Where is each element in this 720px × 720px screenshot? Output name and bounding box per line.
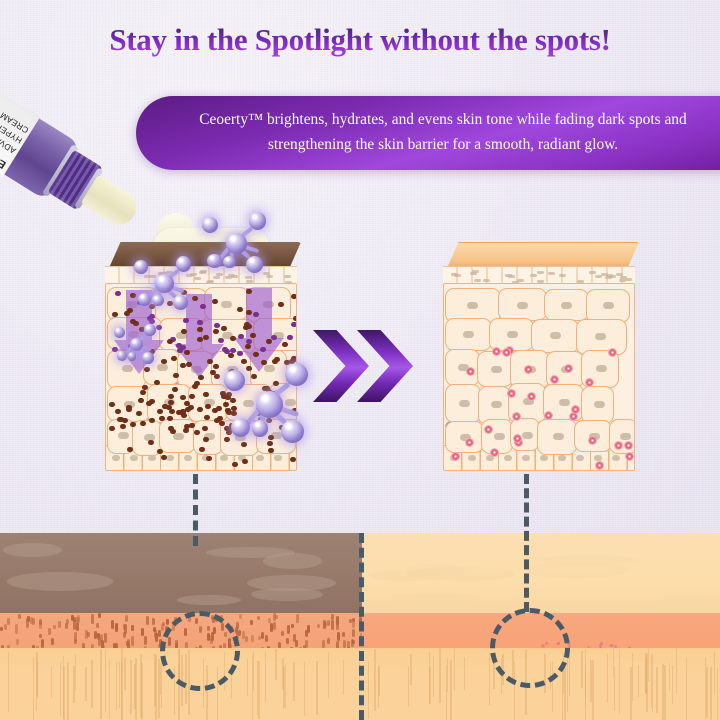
melanin-granule [161,359,167,364]
pigment-speck [331,620,334,630]
keratinocyte [445,318,492,352]
collagen-fiber [630,667,632,720]
active-ingredient-molecule [252,420,269,437]
skin-block-after [443,242,643,472]
melanin-granule [197,320,203,325]
pigment-speck [30,617,33,624]
pigment-speck [337,632,340,641]
active-ingredient-molecule [246,256,264,274]
collagen-fiber [119,662,121,708]
collagen-fiber [564,668,566,720]
active-ingredient-molecule [176,256,192,272]
collagen-fiber [410,654,412,686]
corneum-fleck [474,279,481,282]
description-text: Ceoerty™ brightens, hydrates, and evens … [162,107,720,157]
cell-nucleus [491,366,502,373]
collagen-fiber [669,663,671,691]
collagen-fiber [293,662,295,701]
collagen-fiber [158,659,160,718]
collagen-fiber [705,657,707,720]
active-ingredient-molecule [285,363,308,386]
melanin-granule [154,380,160,385]
melanin-granule [214,323,220,328]
collagen-fiber [714,651,716,695]
cell-nucleus [559,399,570,406]
active-ingredient-molecule [144,324,155,335]
melanin-granule [109,426,115,431]
collagen-fiber [646,654,648,712]
collagen-fiber [141,663,143,720]
pigment-speck [291,624,294,628]
basal-nucleus [130,455,138,461]
active-ingredient-molecule [173,295,189,311]
collagen-fiber [374,649,376,711]
pigment-speck [77,615,80,624]
basal-nucleus [540,455,548,461]
basal-nucleus [468,455,476,461]
healthy-pigment-cell [544,411,553,420]
collagen-fiber [592,660,594,720]
pigment-speck [16,639,19,646]
corneum-fleck [470,272,477,275]
pigment-patch [177,595,241,606]
healthy-surface-slab [447,242,639,268]
collagen-fiber [439,648,441,702]
keratinocyte [581,386,614,424]
cell-nucleus [467,302,478,309]
healthy-pigment-cell [550,375,559,384]
active-ingredient-molecule [138,293,151,306]
melanin-granule [203,437,209,442]
active-ingredient-molecule [134,260,148,274]
cell-nucleus [620,433,631,440]
collagen-fiber [130,660,132,714]
pigment-speck [158,630,161,637]
pigment-speck [146,616,149,625]
pigment-patch [7,572,113,591]
melanin-granule [189,423,195,428]
collagen-fiber [275,649,277,680]
cell-nucleus [494,433,505,440]
collagen-fiber [155,655,157,720]
basal-nucleus [148,455,156,461]
collagen-fiber [656,667,658,713]
active-ingredient-molecule [281,420,304,443]
pigment-speck [0,627,3,632]
collagen-fiber [91,660,93,708]
collagen-fiber [116,662,118,710]
basal-nucleus [220,455,228,461]
collagen-fiber [100,649,102,719]
collagen-fiber [619,649,621,714]
melanin-granule [168,400,174,405]
collagen-fiber [60,662,62,716]
corneum-fleck [620,276,627,279]
collagen-fiber [664,665,666,720]
pigment-speck [65,623,68,629]
keratinocyte [445,384,481,423]
melanin-granule [203,335,209,340]
collagen-fiber [450,660,452,720]
cell-nucleus [459,400,470,407]
pigment-speck [351,639,354,647]
active-ingredient-molecule [114,327,124,337]
healthy-pigment-speck [610,644,613,647]
active-ingredient-molecule [117,351,126,360]
active-ingredient-molecule [202,217,218,233]
pigment-speck [343,640,346,648]
molecule-cluster-deep [216,355,311,450]
collagen-fiber [33,657,35,720]
collagen-fiber [121,648,123,720]
pigment-speck [144,636,147,646]
pigment-speck [26,618,29,628]
melanin-granule [206,456,212,461]
basal-nucleus [576,455,584,461]
keratinocyte [445,349,480,386]
pigment-speck [15,624,18,634]
callout-circle-before [160,611,240,691]
pigment-speck [76,623,79,631]
active-ingredient-molecule [142,352,153,363]
pigment-speck [91,614,94,623]
corneum-fleck [284,275,291,278]
melanin-granule [168,394,174,399]
pigment-speck [48,628,51,635]
collagen-fiber [585,649,587,708]
melanin-granule [246,339,252,344]
pigment-speck [317,624,320,628]
melanin-granule [180,409,186,414]
collagen-fiber [489,653,491,705]
corneum-fleck [505,274,512,277]
melanin-granule [138,398,144,403]
basal-nucleus [504,455,512,461]
callout-line-after [524,474,529,612]
collagen-fiber [247,659,249,696]
pigment-speck [125,615,128,622]
cell-nucleus [522,432,533,439]
melanin-granule [250,333,256,338]
melanin-granule [115,291,121,296]
collagen-fiber [285,664,287,709]
keratinocyte [537,419,576,454]
keratinocyte [498,288,547,321]
corneum-fleck [517,279,524,282]
melanin-granule [202,426,208,431]
collagen-fiber [258,661,260,719]
cell-nucleus [463,331,474,338]
pigment-speck [258,636,261,640]
collagen-fiber [304,662,306,716]
pigment-speck [115,623,118,632]
keratinocyte [586,289,630,323]
basal-nucleus [274,455,282,461]
collagen-fiber [124,658,126,690]
melanin-granule [205,404,211,409]
melanin-granule [246,310,252,315]
pigment-speck [251,635,254,642]
active-ingredient-molecule [256,391,283,418]
collagen-fiber [447,658,449,692]
corneum-fleck [454,274,461,277]
cell-nucleus [603,302,614,309]
collagen-fiber [253,651,255,691]
collagen-fiber [638,665,640,697]
collagen-fiber [109,661,111,719]
collagen-fiber [63,656,65,718]
pigment-speck [104,633,107,643]
pigment-speck [245,636,248,642]
molecule-cluster-airborne [196,206,268,278]
healthy-pigment-cell [625,452,634,461]
melanin-granule [291,322,297,327]
melanin-granule [238,334,244,339]
page-title: Stay in the Spotlight without the spots! [0,22,720,58]
melanin-granule [140,390,146,395]
melanin-granule [253,312,259,317]
melanin-granule [184,350,190,355]
pigment-speck [131,636,134,646]
pigment-speck [131,625,134,631]
cell-nucleus [550,332,561,339]
collagen-fiber [454,648,456,691]
collagen-fiber [67,662,69,720]
pigment-speck [111,620,114,629]
collagen-fiber [581,651,583,688]
pigment-speck [275,615,278,619]
basal-nucleus [522,455,530,461]
cell-nucleus [595,333,606,340]
active-ingredient-molecule [231,418,250,437]
pigment-speck [41,639,44,648]
collagen-fiber [632,653,634,700]
collagen-fiber [567,655,569,712]
callout-circle-after [490,608,570,688]
active-ingredient-molecule [128,352,136,360]
melanin-granule [126,407,132,412]
basal-nucleus [112,455,120,461]
cell-nucleus [596,365,607,372]
corneum-fleck [548,272,555,275]
corneum-fleck [483,279,490,282]
melanin-granule [260,347,266,352]
collagen-fiber [614,667,616,711]
healthy-pigment-cell [484,425,493,434]
melanin-granule [207,359,213,364]
active-ingredient-molecule [249,212,267,230]
collagen-fiber [562,667,564,720]
active-ingredient-molecule [152,295,164,307]
cell-nucleus [517,302,528,309]
pigment-speck [327,620,330,626]
collagen-fiber [8,652,10,712]
melanin-granule [183,318,189,323]
collagen-fiber [652,653,654,712]
melanin-granule [109,402,115,407]
pigment-speck [261,632,264,639]
pigment-speck [98,613,101,617]
pigment-speck [74,632,77,642]
molecule-cluster-surface [128,250,193,315]
pigment-speck [123,632,126,638]
epidermis-after [443,283,635,471]
pigment-speck [239,614,242,620]
pigment-speck [352,629,355,637]
melanin-granule [157,409,163,414]
melanin-granule [242,459,248,464]
cell-nucleus [594,401,605,408]
pigment-speck [18,614,21,619]
melanin-granule [140,421,146,426]
corneum-fleck [589,271,596,274]
clear-surface [362,533,720,616]
melanin-granule [144,367,150,372]
collagen-fiber [378,667,380,707]
collagen-fiber [328,652,330,698]
melanin-granule [130,422,136,427]
collagen-fiber [343,660,345,695]
corneum-fleck [530,274,537,277]
collagen-fiber [569,654,571,696]
melanin-granule [221,326,227,331]
cell-nucleus [553,433,564,440]
cell-nucleus [491,401,502,408]
pigment-speck [305,630,308,637]
pigment-speck [336,616,339,625]
pigment-speck [51,638,54,645]
collagen-fiber [316,661,318,715]
melanin-granule [200,304,206,309]
keratinocyte [531,319,579,353]
cell-nucleus [561,302,572,309]
keratinocyte [544,289,589,321]
collagen-fiber [134,664,136,709]
pigment-speck [327,638,330,644]
description-banner: Ceoerty™ brightens, hydrates, and evens … [136,96,720,170]
basal-nucleus [256,455,264,461]
melanin-granule [180,363,186,368]
collagen-fiber [672,665,674,704]
pigment-speck [153,627,156,631]
melanin-granule [142,385,148,390]
basal-nucleus [612,455,620,461]
healthy-pigment-cell [466,367,475,376]
pigment-speck [85,630,88,639]
pigment-speck [152,618,155,624]
pigment-speck [161,624,164,630]
pigment-speck [126,641,129,646]
healthy-pigment-cell [564,364,573,373]
collagen-fiber [676,648,678,692]
melanin-granule [157,449,163,454]
pigment-patch [263,553,322,568]
pigment-speck [7,618,10,626]
healthy-pigment-cell [507,389,516,398]
pigment-speck [58,621,61,628]
melanin-granule [171,356,177,361]
tone-patch [389,593,478,604]
pigment-speck [286,638,289,644]
melanin-granule [188,405,194,410]
pigment-speck [250,620,253,625]
melanin-granule [230,336,236,341]
melanin-granule [167,416,173,421]
molecule-cluster-small [110,320,157,367]
melanin-granule [246,289,252,294]
pigment-speck [96,623,99,627]
pigment-speck [295,640,298,647]
collagen-fiber [408,666,410,708]
pigment-speck [100,634,103,643]
pigment-patch [247,575,336,592]
collagen-fiber [686,657,688,720]
cell-nucleus [507,331,518,338]
pigment-speck [349,619,352,624]
melanin-granule [194,381,200,386]
pigmented-surface [0,533,362,616]
healthy-pigment-cell [492,347,501,356]
pigment-speck [324,622,327,627]
basal-nucleus [184,455,192,461]
active-ingredient-molecule [207,254,221,268]
melanin-granule [204,415,210,420]
pigment-speck [342,632,345,637]
pigment-speck [71,615,74,620]
tone-patch [405,564,464,578]
pigment-speck [257,616,260,620]
before-after-divider [359,533,364,720]
corneum-fleck [537,271,544,274]
collagen-fiber [368,661,370,719]
pigment-speck [270,623,273,633]
collagen-fiber [706,667,708,718]
pigment-speck [281,631,284,636]
infographic-canvas: Stay in the Spotlight without the spots!… [0,0,720,720]
collagen-fiber [710,667,712,720]
pigment-speck [39,621,42,628]
melanin-granule [293,316,297,321]
melanin-granule [232,462,238,467]
callout-line-before [193,474,198,546]
collagen-fiber [429,652,431,704]
collagen-fiber [51,667,53,698]
melanin-granule [291,294,297,299]
collagen-fiber [433,656,435,697]
corneum-fleck [559,274,566,277]
pigment-speck [53,625,56,629]
corneum-fleck [609,275,616,278]
healthy-pigment-cell [585,378,594,387]
keratinocyte [445,421,484,453]
collagen-fiber [73,666,75,703]
healthy-pigment-cell [502,348,511,357]
active-ingredient-molecule [224,370,245,391]
pigment-speck [296,614,299,623]
collagen-fiber [75,654,77,690]
collagen-fiber [105,650,107,712]
collagen-fiber [717,668,719,720]
corneum-fleck [595,275,602,278]
melanin-granule [112,312,118,317]
healthy-pigment-cell [595,461,604,470]
pigment-speck [236,622,239,629]
healthy-pigment-cell [624,441,633,450]
collagen-fiber [265,652,267,703]
melanin-granule [243,325,249,330]
pigment-patch [3,543,63,557]
melanin-granule [167,339,173,344]
